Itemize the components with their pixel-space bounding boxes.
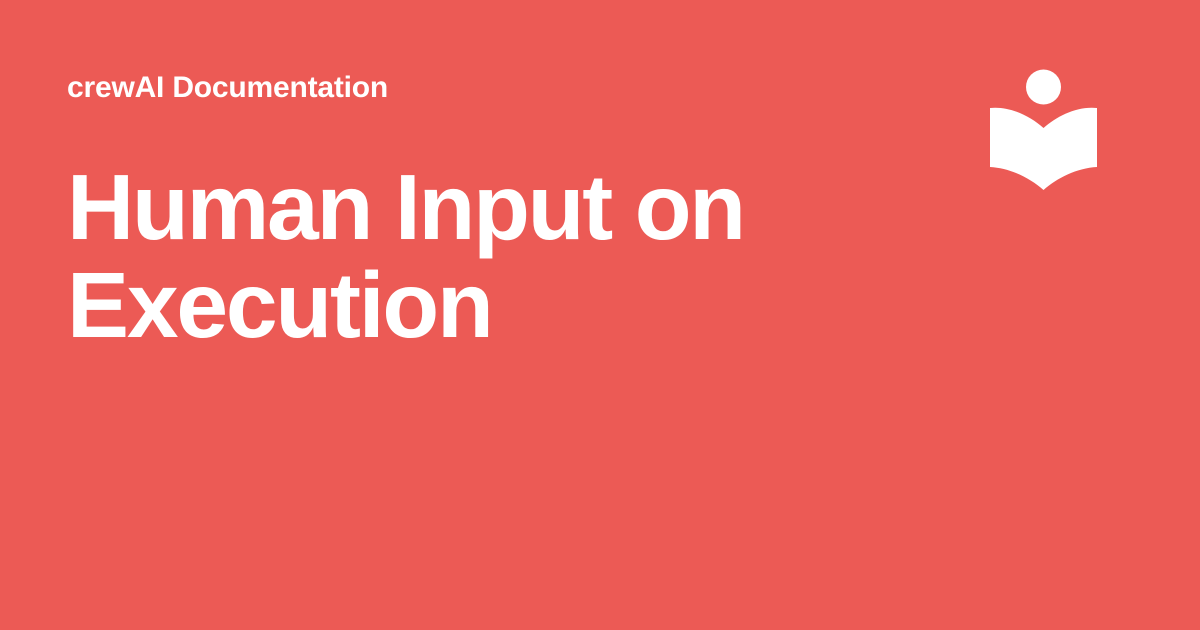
open-book-reader-icon <box>986 62 1104 198</box>
page-title: Human Input on Execution <box>67 158 827 354</box>
site-label: crewAI Documentation <box>67 70 388 106</box>
og-social-card: crewAI Documentation Human Input on Exec… <box>0 0 1200 630</box>
